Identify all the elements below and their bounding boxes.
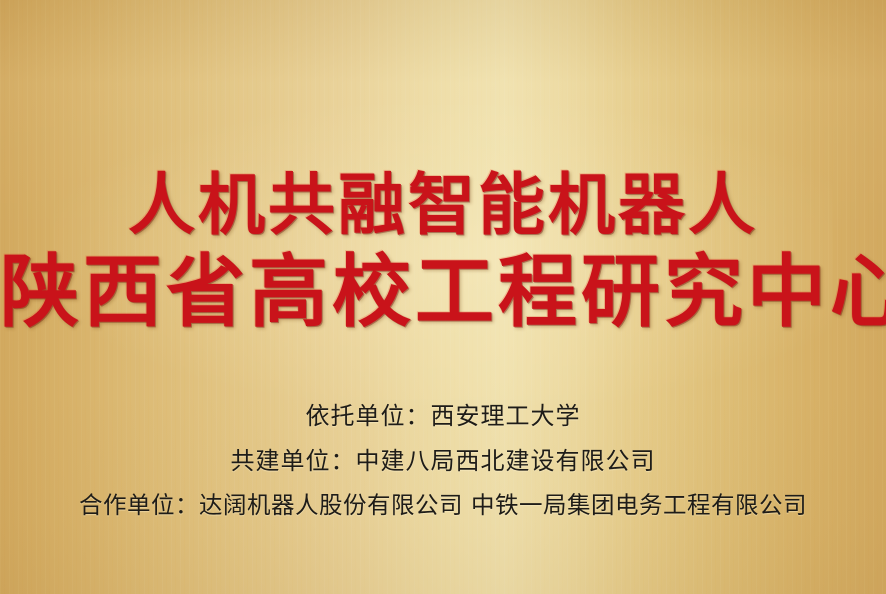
co-built-institution-line: 共建单位：中建八局西北建设有限公司 xyxy=(0,449,886,473)
plaque-title: 人机共融智能机器人 陕西省高校工程研究中心 xyxy=(0,172,886,332)
host-institution-line: 依托单位：西安理工大学 xyxy=(0,404,886,428)
title-line-2: 陕西省高校工程研究中心 xyxy=(0,253,886,332)
award-plaque: 人机共融智能机器人 陕西省高校工程研究中心 依托单位：西安理工大学 共建单位：中… xyxy=(0,0,886,594)
cooperating-institution-line: 合作单位：达阔机器人股份有限公司 中铁一局集团电务工程有限公司 xyxy=(0,494,886,518)
title-line-1: 人机共融智能机器人 xyxy=(0,172,886,239)
plaque-content: 人机共融智能机器人 陕西省高校工程研究中心 依托单位：西安理工大学 共建单位：中… xyxy=(0,0,886,594)
affiliation-list: 依托单位：西安理工大学 共建单位：中建八局西北建设有限公司 合作单位：达阔机器人… xyxy=(0,404,886,518)
